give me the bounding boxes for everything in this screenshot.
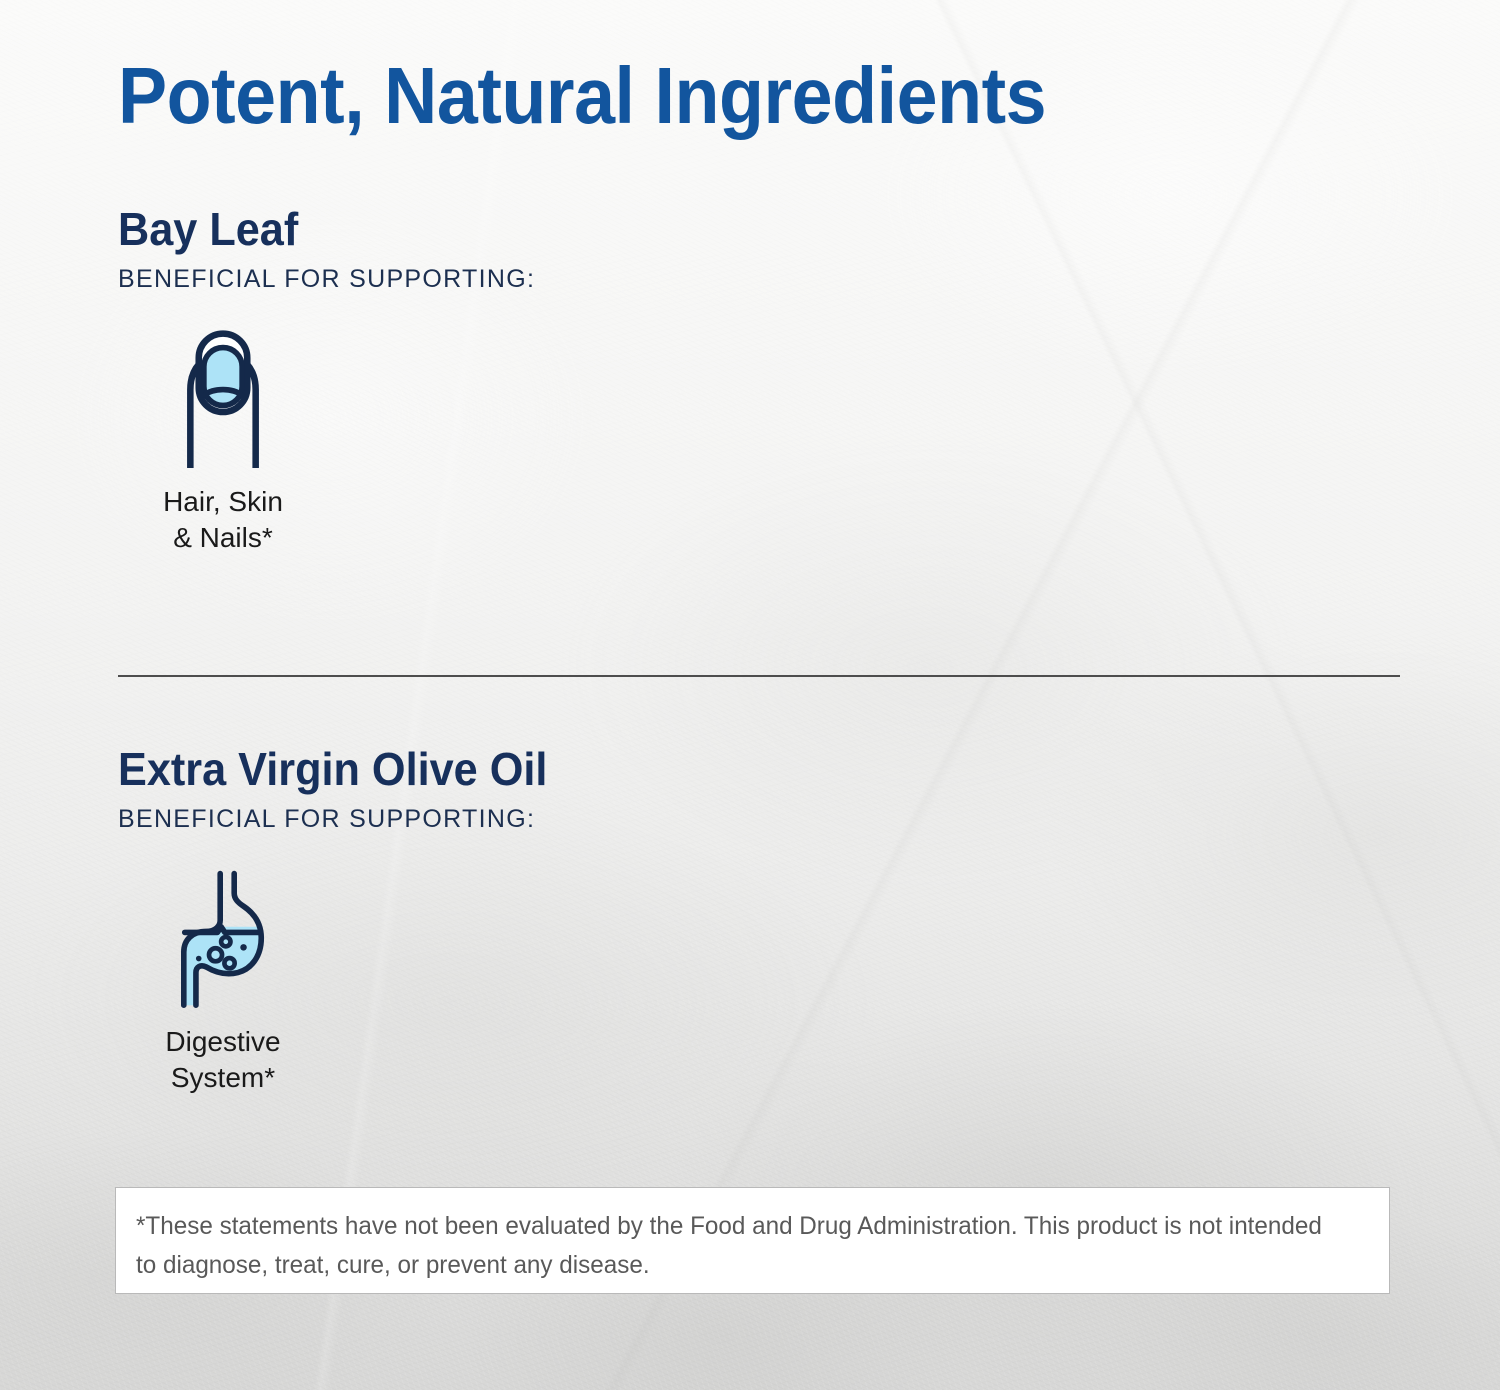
stomach-icon (157, 868, 289, 1008)
content-layer: Potent, Natural Ingredients Bay Leaf BEN… (0, 0, 1500, 1390)
benefit-hair-skin-nails: Hair, Skin & Nails* (118, 328, 328, 556)
section-divider (118, 675, 1400, 677)
section-extra-virgin-olive-oil: Extra Virgin Olive Oil BENEFICIAL FOR SU… (118, 745, 575, 1096)
disclaimer-box: *These statements have not been evaluate… (115, 1187, 1390, 1294)
benefit-label-hair-skin-nails: Hair, Skin & Nails* (163, 484, 283, 556)
ingredients-infographic: Potent, Natural Ingredients Bay Leaf BEN… (0, 0, 1500, 1390)
fingernail-icon (157, 328, 289, 468)
section-title-extra-virgin-olive-oil: Extra Virgin Olive Oil (118, 745, 547, 793)
benefit-label-digestive-system: Digestive System* (165, 1024, 280, 1096)
section-subtitle-bay-leaf: BENEFICIAL FOR SUPPORTING: (118, 264, 535, 294)
section-subtitle-extra-virgin-olive-oil: BENEFICIAL FOR SUPPORTING: (118, 804, 575, 834)
page-title: Potent, Natural Ingredients (118, 56, 1046, 136)
disclaimer-text: *These statements have not been evaluate… (136, 1207, 1336, 1285)
section-title-bay-leaf: Bay Leaf (118, 205, 510, 253)
benefit-digestive-system: Digestive System* (118, 868, 328, 1096)
section-bay-leaf: Bay Leaf BENEFICIAL FOR SUPPORTING: Hair… (118, 205, 535, 556)
